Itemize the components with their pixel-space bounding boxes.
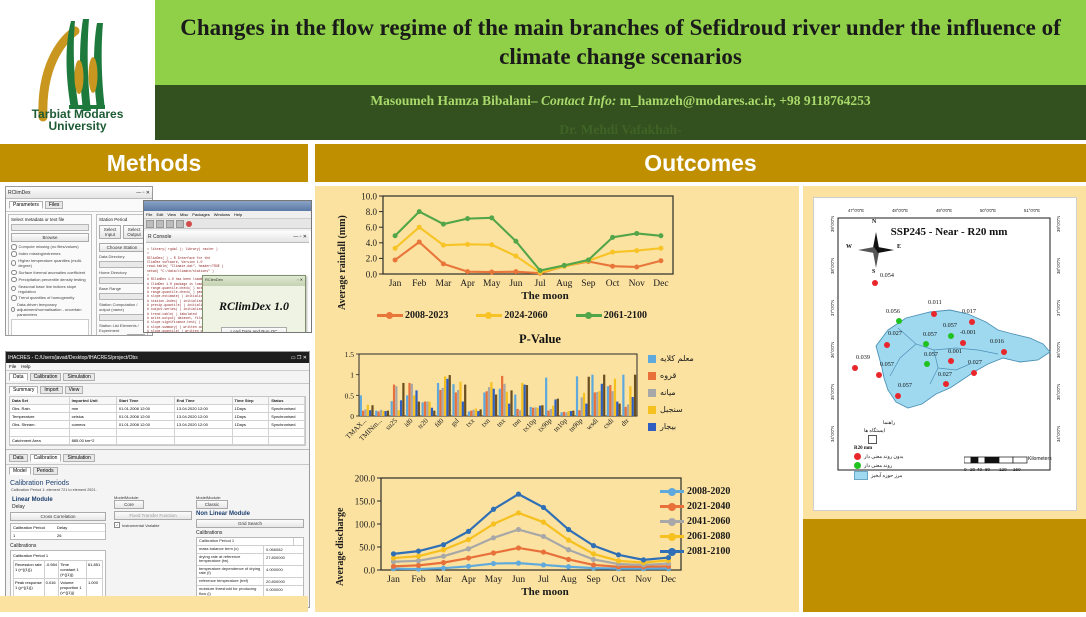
ihacres-window-controls[interactable]: ▭ ❐ ✕ [291,355,307,361]
radio-opt-2-label: Index missing/extremes [19,251,61,256]
legend-variable-label: R20 mm [854,446,924,451]
console-window-controls[interactable]: — ▫ ✕ [293,234,307,240]
svg-text:fd0: fd0 [433,416,446,429]
metadata-group: Select metadata or text file Browse Comp… [8,214,92,336]
map-longitude-label: 51°0'0"E [1024,208,1040,213]
discharge-chart: Average discharge 0.050.0100.0150.0200.0… [315,468,799,612]
lin-param-1-value: 0.016 [45,579,60,596]
calibration-tabs[interactable]: Data Calibration Simulation [6,452,309,465]
base-range-field[interactable] [99,293,145,300]
svg-text:Aug: Aug [556,279,573,289]
delay-col-delay: Delay [55,524,81,531]
svg-text:2.0: 2.0 [366,254,378,264]
r-menubar[interactable]: File Edit View Misc Packages Windows Hel… [144,211,311,219]
browse-button[interactable]: Browse [11,233,89,242]
map-point-label: 0.011 [928,299,942,306]
experiment-browse-button[interactable]: Sel [127,334,145,336]
toolbar-paste-icon[interactable] [176,220,184,228]
map-latitude-label: 38°0'0"N [830,258,835,274]
legend-item: میانه [648,388,694,397]
map-station-point[interactable] [971,370,977,376]
legend-marker [668,488,676,496]
delay-label: Delay [12,504,110,510]
svg-text:8.0: 8.0 [366,207,378,217]
col-data-set: Data Set [10,397,70,404]
catchment-area-value: 885.00 km^2 [70,437,117,444]
nl-param-0-value: 0.066082 [264,546,298,553]
tab-parameters[interactable]: Parameters [9,201,43,209]
instrumental-variable-label: Instrumental Variable [122,523,160,528]
window-controls[interactable]: — ▫ ✕ [136,190,150,196]
map-point-label: 0.016 [990,338,1004,345]
map-station-point[interactable] [948,358,954,364]
data-directory-field[interactable] [99,261,145,268]
nl-param-row: drying rate at reference temperature (tw… [197,554,303,566]
svg-text:Nov: Nov [635,575,652,585]
nl-param-1-value: 27.800000 [264,554,298,565]
calibration-periods-note: Calibration Period 1: element 721 to ele… [11,488,309,492]
fixed-transfer-function-button[interactable]: Fixed Transfer Function [114,511,192,520]
nl-param-2-value: 4.000000 [264,566,298,577]
legend-line-swatch [660,505,684,508]
scale-tick-labels: 0204080120160 [964,467,1054,474]
legend-marker [386,312,393,319]
legend-item: 2008-2023 [377,310,448,321]
legend-label: 2021-2040 [687,501,730,512]
legend-line-swatch [377,314,403,317]
nl-period-header: Calibration Period 1 [197,538,303,546]
svg-text:Apr: Apr [460,279,476,289]
calib-subtab-model[interactable]: Model [9,467,31,475]
radio-opt-5[interactable]: Precipitation percentile density testing [11,277,89,283]
radio-opt-6-label: Seasonal base line indices slope regulat… [18,284,89,294]
legend-green-label: روند معنی دار [864,463,892,469]
svg-text:4.0: 4.0 [366,238,378,248]
station-period-group: Station Period Select Input Select Outpu… [96,214,148,336]
metadata-path-field[interactable] [11,224,89,231]
tabbar[interactable]: Parameters Files [6,199,152,212]
svg-text:0: 0 [350,412,354,421]
methods-label: Methods [107,150,202,177]
radio-opt-7[interactable]: Trend quantiles of homogeneity [11,295,89,301]
pvalue-chart: P-Value 00.511.5TMAX...TMINm...su25id0tr… [315,332,799,467]
map-point-label: 0.027 [888,330,902,337]
map-latitude-label: 35°0'0"N [1056,384,1061,400]
svg-text:tn10p: tn10p [552,416,569,433]
rclimdex-dialog-controls[interactable]: ▫ ✕ [297,277,303,285]
window-titlebar: RClimDex — ▫ ✕ [6,187,152,199]
legend-marker [485,312,492,319]
calib-tab-data[interactable]: Data [9,454,28,462]
discharge-y-axis-title: Average discharge [335,508,346,586]
methods-panel: RClimDex — ▫ ✕ Parameters Files Select m… [0,186,308,612]
svg-text:Jul: Jul [538,575,549,585]
radio-opt-1[interactable]: Compute missing (no files/values) [11,244,89,250]
poster-root: Tarbiat Modares University Changes in th… [0,0,1086,612]
tab-simulation[interactable]: Simulation [63,373,94,381]
map-station-point[interactable] [876,372,882,378]
map-station-point[interactable] [884,342,890,348]
legend-color-swatch [648,372,656,380]
menu-help[interactable]: Help [234,212,242,217]
legend-label: بیجار [660,422,676,431]
ihacres-menu-help[interactable]: Help [21,364,30,369]
radio-opt-4[interactable]: Surface thermal anomalies coefficient [11,270,89,276]
svg-text:Dec: Dec [661,575,676,585]
station-output-field[interactable] [99,314,145,321]
choose-station-button[interactable]: Choose Station [99,243,145,252]
cell-unit: mm [70,405,117,412]
radio-opt-2[interactable]: Index missing/extremes [11,251,89,257]
home-directory-field[interactable] [99,277,145,284]
ihacres-main-tabs[interactable]: Data Calibration Simulation [6,371,309,384]
section-header-outcomes: Outcomes [315,144,1086,182]
model-module-select-linear[interactable]: Core [114,500,144,509]
svg-text:1: 1 [350,371,354,380]
map-station-point[interactable] [852,365,858,371]
radio-opt-8[interactable]: Data-driven temporary adjustment/normali… [11,302,89,317]
table-row-empty [10,429,305,437]
r-gui-window[interactable]: File Edit View Misc Packages Windows Hel… [143,200,312,333]
ihacres-sub-tabs[interactable]: Summary Import View [6,384,309,396]
legend-color-swatch [648,389,656,397]
calibration-periods-title: Calibration Periods [10,480,309,487]
svg-text:6.0: 6.0 [366,223,378,233]
cell-status: Synchronised [269,413,305,420]
map-station-point[interactable] [931,311,937,317]
delay-val-period: 1 [11,532,55,539]
pvalue-chart-title: P-Value [425,332,655,347]
legend-station-swatch [868,435,877,444]
options-scroll-area[interactable] [11,319,89,336]
legend-line-swatch [660,535,684,538]
map-station-point[interactable] [924,361,930,367]
rclimdex-parameters-window[interactable]: RClimDex — ▫ ✕ Parameters Files Select m… [5,186,153,336]
legend-marker [668,503,676,511]
ihacres-title: IHACRES - C:/Users/javad/Desktop/IHACRES… [8,355,138,361]
menu-misc[interactable]: Misc [180,212,188,217]
lin-param-3-name: Volume proportion 1 (v^{(1)}) [59,579,87,596]
svg-text:0.5: 0.5 [345,391,355,400]
cross-correlation-button[interactable]: Cross Correlation [10,512,106,521]
legend-line-swatch [476,314,502,317]
map-station-point[interactable] [948,333,954,339]
map-latitude-label: 36°0'0"N [1056,342,1061,358]
map-longitude-label: 50°0'0"E [980,208,996,213]
legend-item: 2041-2060 [660,516,730,527]
svg-text:Jul: Jul [535,279,546,289]
r-console[interactable]: R Console — ▫ ✕ > library( rgdal ); libr… [144,231,311,333]
svg-text:Jan: Jan [389,279,402,289]
delay-col-period: Calibration Period [11,524,55,531]
lin-param-2-name: Time constant 1 (t^{(1)}) [59,561,87,578]
select-output-button[interactable]: Select Output [123,225,145,239]
table-row[interactable]: Obs. Stream. cumecs 01.01.2008 12:00 13.… [10,421,305,429]
map-point-label: 0.027 [938,371,952,378]
load-data-qc-button[interactable]: Load Data and Run QC [221,327,287,333]
legend-basin-label: مرز حوزه آبخیز [871,473,902,479]
nl-param-row: mass balance term (c) 0.066082 [197,546,303,554]
svg-text:50.0: 50.0 [359,542,375,552]
contact-value: m_hamzeh@modares.ac.ir, +98 9118764253 [620,93,871,108]
legend-label: 2024-2060 [504,310,547,321]
legend-marker [668,548,676,556]
checkbox-icon: ✓ [114,522,120,528]
table-header-row: Data Set Imported Unit Start Time End Ti… [10,397,305,405]
svg-text:Mar: Mar [436,575,453,585]
calibration-subtabs[interactable]: Model Periods [6,465,309,477]
col-imported-unit: Imported Unit [70,397,117,404]
linear-module-label: Linear Module [12,497,110,503]
map-point-label: 0.057 [924,351,938,358]
map-point-label: 0.001 [948,348,962,355]
legend-red-label: بدون روند معنی دار [864,454,904,460]
methods-bottom-strip [0,596,308,612]
legend-item: سنجبل [648,405,694,414]
legend-item: 2008-2020 [660,486,730,497]
map-point-label: 0.057 [923,331,937,338]
scale-tick: 160 [1013,467,1021,472]
svg-text:Aug: Aug [560,575,577,585]
model-module-select-nonlinear[interactable]: Classic [196,500,228,509]
ihacres-menubar[interactable]: File Help [6,363,309,371]
svg-text:Sep: Sep [581,279,596,289]
nl-param-3-name: reference temperature (tref) [197,578,264,585]
svg-text:csdi: csdi [602,417,616,431]
table-row[interactable]: Obs. Rain. mm 01.01.2008 12:00 13.04.202… [10,405,305,413]
toolbar-stop-icon[interactable] [186,221,192,227]
map-station-point[interactable] [943,381,949,387]
calib-subtab-periods[interactable]: Periods [33,467,58,475]
compass-n: N [872,219,876,225]
scale-tick: 0 [964,467,967,472]
legend-red-row: بدون روند معنی دار [854,453,924,460]
legend-label: میانه [660,388,676,397]
delay-val-delay: 26 [55,532,81,539]
menu-packages[interactable]: Packages [192,212,210,217]
calib-tab-simulation[interactable]: Simulation [63,454,94,462]
legend-marker [668,533,676,541]
subtab-import[interactable]: Import [40,386,62,394]
grid-search-button[interactable]: Grid Search [196,519,304,528]
rclimdex-dialog[interactable]: RClimDex ▫ ✕ RClimDex 1.0 Load Data and … [202,275,306,333]
svg-text:tn90p: tn90p [567,416,584,433]
legend-marker [585,312,592,319]
table-row[interactable]: Temperature celsius 01.01.2008 12:00 13.… [10,413,305,421]
scale-tick: 80 [985,467,990,472]
author-line-2: Dr. Mehdi Vafakhah- [155,109,1086,138]
svg-text:0.0: 0.0 [366,269,378,279]
svg-text:1.5: 1.5 [345,350,355,359]
map-station-point[interactable] [960,340,966,346]
console-titlebar: R Console — ▫ ✕ [146,231,309,243]
radio-opt-8-label: Data-driven temporary adjustment/normali… [17,302,89,317]
legend-label: 2081-2100 [687,546,730,557]
menu-edit[interactable]: Edit [156,212,163,217]
svg-text:txx: txx [464,416,476,428]
legend-item: 2024-2060 [476,310,547,321]
svg-text:Mar: Mar [436,279,453,289]
nl-param-3-value: 20.800000 [264,578,298,585]
nl-param-0-name: mass balance term (c) [197,546,264,553]
calibrations-label-nonlinear: Calibrations [196,530,304,536]
section-header-methods: Methods [0,144,308,182]
tab-calibration[interactable]: Calibration [30,373,62,381]
radio-opt-1-label: Compute missing (no files/values) [19,244,79,249]
map-longitude-label: 47°0'0"E [848,208,864,213]
svg-text:wsdi: wsdi [585,417,600,432]
map-latitude-label: 34°0'0"N [1056,426,1061,442]
legend-color-swatch [648,406,656,414]
cell-start: 01.01.2008 12:00 [117,405,175,412]
logo-line-2: University [13,120,143,133]
map-station-point[interactable] [923,341,929,347]
map-figure: SSP245 - Near - R20 mm 0.0540.0560.0110.… [813,197,1077,511]
legend-label: 2008-2023 [405,310,448,321]
field-label-2: Home Directory [99,270,145,275]
legend-line-swatch [660,520,684,523]
svg-text:Jan: Jan [387,575,400,585]
contact-label: Contact Info: [541,93,616,108]
subtab-summary[interactable]: Summary [9,386,38,394]
field-label-3: Base Range [99,286,145,291]
map-scale-bar: Kilometers 0204080120160 [964,456,1054,474]
rainfall-y-axis-title: Average rainfall (mm) [337,215,348,310]
nl-param-row: reference temperature (tref) 20.800000 [197,578,303,586]
field-label-4: Station Computation / output (name) [99,302,145,312]
map-latitude-label: 39°0'0"N [1056,216,1061,232]
nl-param-2-name: temperature dependence of drying rate (f… [197,566,264,577]
legend-stations-label: ایستگاه ها [864,428,924,434]
svg-text:May: May [483,279,501,289]
compass-w: W [846,244,852,250]
author-name: Masoumeh Hamza Bibalani– [370,93,537,108]
map-station-point[interactable] [895,393,901,399]
tab-data[interactable]: Data [9,373,28,381]
svg-text:Oct: Oct [612,575,626,585]
map-station-point[interactable] [896,318,902,324]
legend-label: 2041-2060 [687,516,730,527]
ihacres-titlebar: IHACRES - C:/Users/javad/Desktop/IHACRES… [6,352,309,363]
legend-item: 2061-2080 [660,531,730,542]
cell-step: 1Days [233,413,270,420]
map-point-label: 0.057 [898,382,912,389]
pvalue-plot: 00.511.5TMAX...TMINm...su25id0tr20fd0gsl… [315,332,799,467]
legend-red-swatch [854,453,861,460]
cell-step: 1Days [233,405,270,412]
map-panel: SSP245 - Near - R20 mm 0.0540.0560.0110.… [803,186,1086,519]
legend-label: 2008-2020 [687,486,730,497]
svg-text:Sep: Sep [586,575,601,585]
calibration-section: Data Calibration Simulation Model Period… [6,449,309,608]
poster-title-band: Changes in the flow regime of the main b… [155,0,1086,85]
radio-opt-6[interactable]: Seasonal base line indices slope regulat… [11,284,89,294]
page-title: Changes in the flow regime of the main b… [155,14,1086,70]
legend-color-swatch [648,423,656,431]
legend-basin-swatch [854,471,868,480]
nonlinear-module-label: Non Linear Module [196,511,304,517]
compass-e: E [897,244,901,250]
calib-tab-calibration[interactable]: Calibration [30,454,62,462]
map-latitude-label: 36°0'0"N [830,342,835,358]
svg-text:dtr: dtr [620,416,632,428]
legend-label: قروه [660,371,676,380]
nl-param-row: temperature dependence of drying rate (f… [197,566,303,578]
model-module-label-linear: ModelModule: [114,495,192,500]
radio-opt-3[interactable]: Higher temperature quantiles (multi-degr… [11,258,89,268]
outcomes-label: Outcomes [644,150,756,177]
lin-param-1-name: Peak response 1 (p^{(1)}) [14,579,45,596]
catchment-area-row: Catchment Area 885.00 km^2 [10,437,305,445]
map-station-point[interactable] [969,319,975,325]
rclimdex-dialog-title: RClimDex [205,277,223,285]
field-label-5: Station List Elements / Experiment [99,323,145,333]
cell-step: 1Days [233,421,270,428]
ihacres-menu-file[interactable]: File [9,364,16,369]
r-toolbar[interactable] [144,219,311,229]
radio-opt-5-label: Precipitation percentile density testing [19,277,86,282]
lin-param-2-value: 61.851 [87,561,102,578]
scale-tick: 120 [999,467,1007,472]
tab-files[interactable]: Files [45,201,64,209]
toolbar-save-icon[interactable] [156,220,164,228]
instrumental-variable-checkbox[interactable]: ✓ Instrumental Variable [114,522,192,528]
legend-label: معلم کلایه [660,354,694,363]
menu-view[interactable]: View [167,212,176,217]
lin-param-0-value: -0.984 [45,561,60,578]
rclimdex-brand: RClimDex 1.0 [203,299,305,314]
legend-item: 2081-2100 [660,546,730,557]
map-point-label: 0.057 [943,322,957,329]
logo-text: Tarbiat Modares University [13,108,143,133]
select-input-button[interactable]: Select Input [99,225,121,239]
linear-calib-period-label: Calibration Period 1 [13,553,103,558]
col-start-time: Start Time [117,397,175,404]
datasets-table[interactable]: Data Set Imported Unit Start Time End Ti… [9,396,306,446]
ihacres-window[interactable]: IHACRES - C:/Users/javad/Desktop/IHACRES… [5,351,310,608]
cell-unit: celsius [70,413,117,420]
map-station-point[interactable] [872,280,878,286]
col-end-time: End Time [175,397,233,404]
r-window-titlebar [144,201,311,211]
rainfall-legend: 2008-20232024-20602061-2100 [377,310,675,321]
map-point-label: 0.017 [962,308,976,315]
calibrations-label-linear: Calibrations [10,543,110,549]
poster-header: Tarbiat Modares University Changes in th… [0,0,1086,140]
menu-file[interactable]: File [146,212,152,217]
cell-data-set: Obs. Stream. [10,421,70,428]
map-station-point[interactable] [1001,349,1007,355]
experiment-field[interactable] [99,335,125,336]
rclimdex-dialog-titlebar: RClimDex ▫ ✕ [203,276,305,286]
scale-tick: 20 [970,467,975,472]
menu-windows[interactable]: Windows [214,212,230,217]
station-period-label: Station Period [99,217,145,222]
map-latitude-label: 37°0'0"N [1056,300,1061,316]
field-label-1: Data Directory [99,254,145,259]
toolbar-copy-icon[interactable] [166,220,174,228]
toolbar-open-icon[interactable] [146,220,154,228]
svg-text:Jun: Jun [512,575,525,585]
legend-line-swatch [576,314,602,317]
subtab-view[interactable]: View [65,386,84,394]
delay-table[interactable]: Calibration Period Delay 1 26 [10,523,106,540]
map-point-label: 0.056 [886,308,900,315]
radio-opt-3-label: Higher temperature quantiles (multi-degr… [18,258,89,268]
map-legend: راهنما ایستگاه ها R20 mm بدون روند معنی … [854,420,924,480]
cell-end: 13.04.2020 12:00 [175,413,233,420]
author-line: Masoumeh Hamza Bibalani– Contact Info: m… [155,85,1086,109]
